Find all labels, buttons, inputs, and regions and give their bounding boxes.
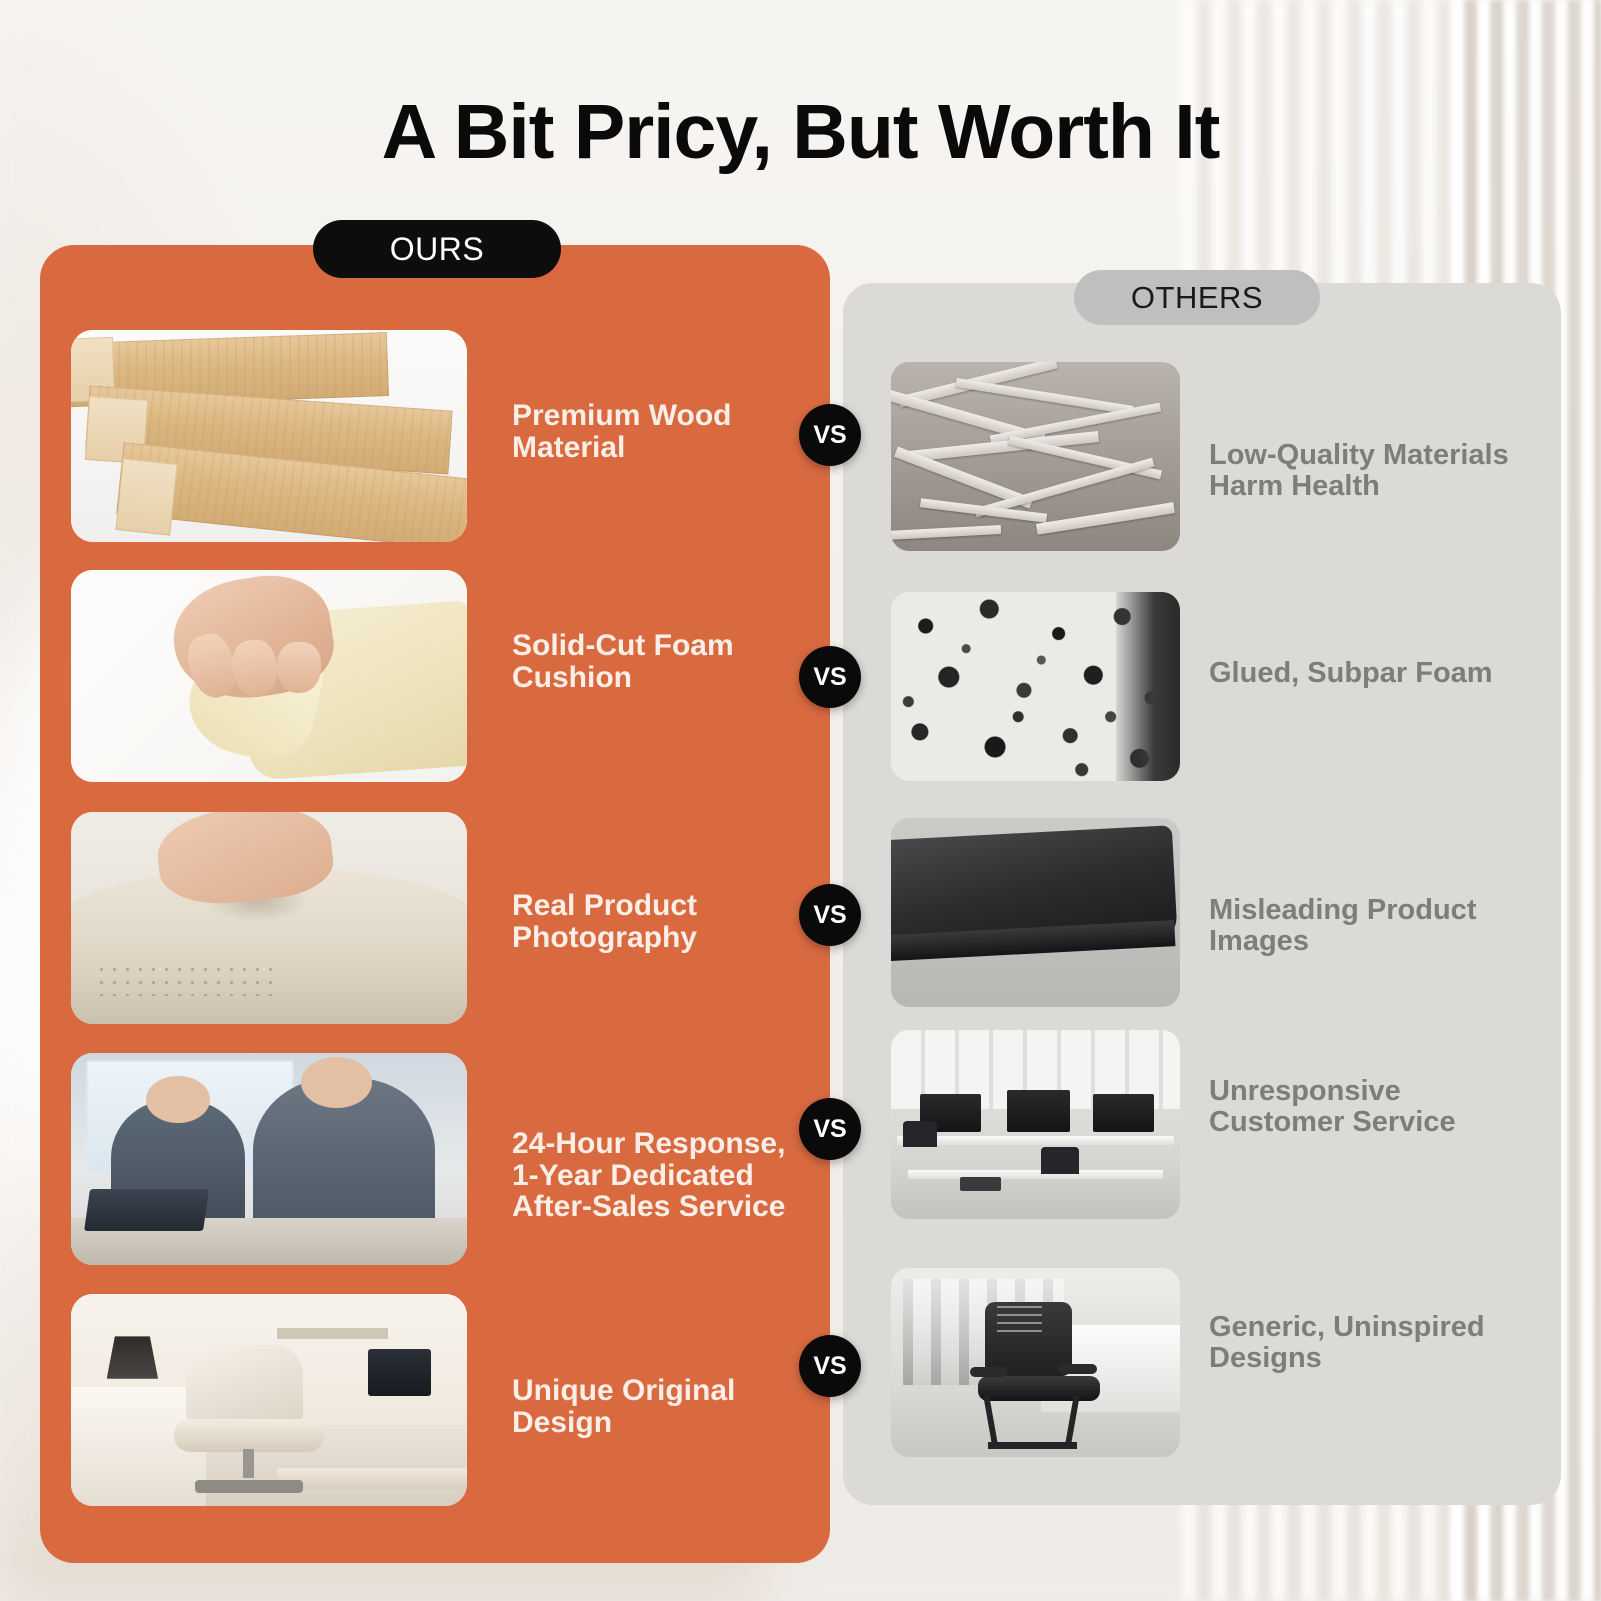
ours-image-1: [71, 570, 467, 782]
others-image-3: [891, 1030, 1180, 1219]
others-column-badge: OTHERS: [1074, 270, 1320, 325]
others-image-1: [891, 592, 1180, 781]
ours-label-1: Solid-Cut Foam Cushion: [512, 630, 812, 693]
ours-column-badge: OURS: [313, 220, 561, 278]
vs-badge-4: VS: [799, 1335, 861, 1397]
others-image-2: [891, 818, 1180, 1007]
ours-label-4: Unique Original Design: [512, 1375, 812, 1438]
others-label-0: Low-Quality Materials Harm Health: [1209, 440, 1539, 503]
others-label-4: Generic, Uninspired Designs: [1209, 1312, 1539, 1375]
ours-image-2: [71, 812, 467, 1024]
others-label-1: Glued, Subpar Foam: [1209, 658, 1539, 689]
ours-label-3: 24-Hour Response, 1-Year Dedicated After…: [512, 1128, 812, 1223]
page-title: A Bit Pricy, But Worth It: [0, 88, 1601, 177]
others-image-4: [891, 1268, 1180, 1457]
others-label-3: Unresponsive Customer Service: [1209, 1076, 1539, 1139]
ours-label-2: Real Product Photography: [512, 890, 812, 953]
ours-image-4: [71, 1294, 467, 1506]
vs-badge-1: VS: [799, 646, 861, 708]
vs-badge-2: VS: [799, 884, 861, 946]
vs-badge-3: VS: [799, 1098, 861, 1160]
ours-image-0: [71, 330, 467, 542]
others-label-2: Misleading Product Images: [1209, 895, 1539, 958]
ours-image-3: [71, 1053, 467, 1265]
ours-label-0: Premium Wood Material: [512, 400, 812, 463]
others-image-0: [891, 362, 1180, 551]
vs-badge-0: VS: [799, 404, 861, 466]
